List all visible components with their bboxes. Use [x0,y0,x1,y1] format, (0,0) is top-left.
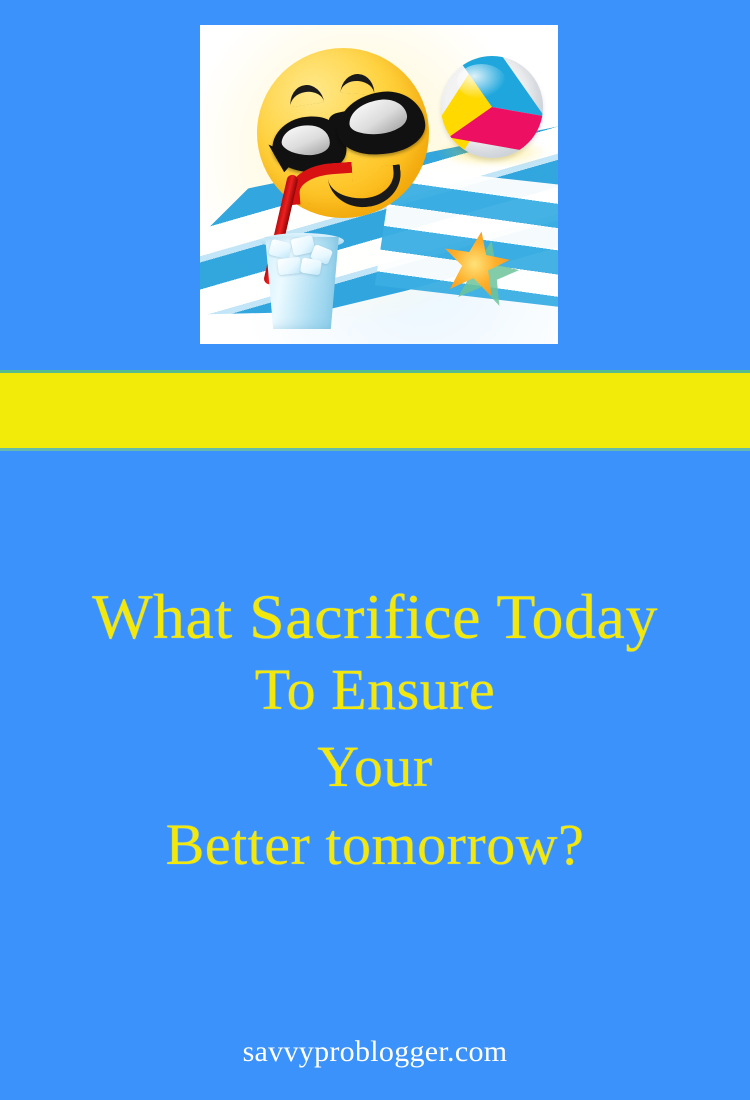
page-title: What Sacrifice Today To Ensure Your Bett… [0,583,750,875]
headline-line-2: To Ensure [0,659,750,720]
headline-line-3: Your [0,736,750,797]
hero-image-card [200,25,558,344]
ice-cube [277,257,302,275]
divider-bottom-edge [0,448,750,451]
headline-line-1: What Sacrifice Today [0,583,750,651]
beach-ball-icon [441,56,543,158]
pinterest-pin-graphic: What Sacrifice Today To Ensure Your Bett… [0,0,750,1100]
beach-smiley-illustration [200,25,558,344]
ice-cube [300,258,322,276]
starfish-icon [443,231,509,295]
yellow-divider-band [0,373,750,448]
headline-line-4: Better tomorrow? [0,814,750,875]
site-url-footer: savvyproblogger.com [0,1035,750,1069]
ball-gloss-highlight [457,64,506,99]
